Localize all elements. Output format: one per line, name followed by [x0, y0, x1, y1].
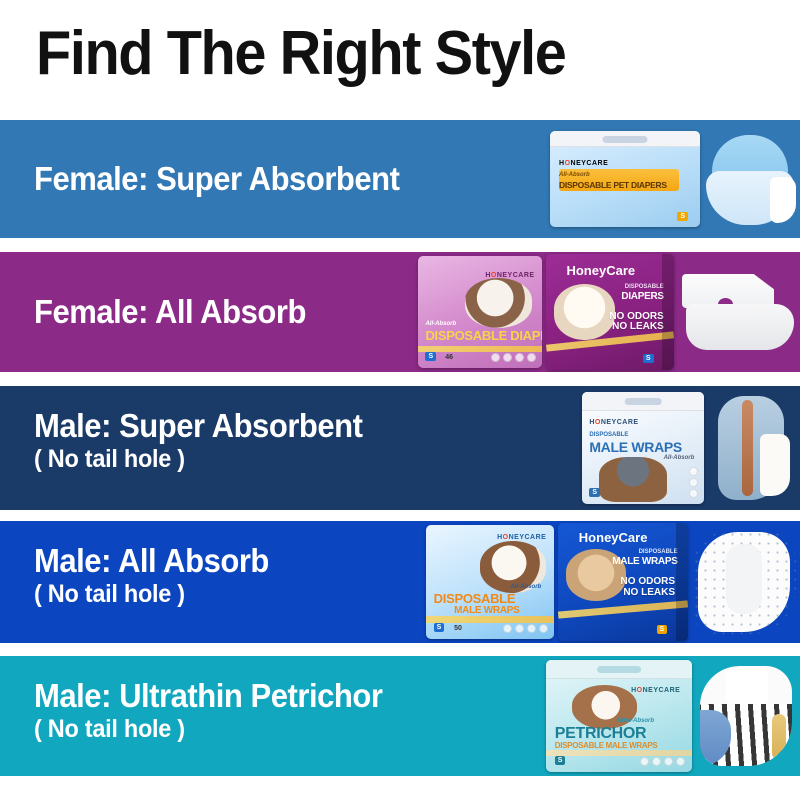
- package-feature-icons: [503, 624, 548, 633]
- row-products-female-super-absorbent: HONEYCARE All-Absorb DISPOSABLE PET DIAP…: [550, 120, 800, 238]
- package-tagline: All-Absorb: [511, 584, 542, 590]
- row-label-note: ( No tail hole ): [34, 579, 269, 609]
- package-feature-icons: [640, 757, 685, 766]
- diaper-leg-cuff: [770, 177, 796, 223]
- package-side-panel: [676, 523, 688, 641]
- row-label-male-ultrathin-petrichor: Male: Ultrathin Petrichor ( No tail hole…: [34, 678, 382, 744]
- package-brand-honeycare: HONEYCARE: [497, 534, 546, 541]
- dog-photo-spaniel-with-hat: [599, 457, 667, 502]
- package-product-name: DIAPERS: [621, 291, 663, 302]
- package-product-name: DISPOSABLE PET DIAPERS: [559, 180, 667, 190]
- package-claim-no-leaks: NO LEAKS: [612, 322, 664, 333]
- row-label-main: Male: All Absorb: [34, 543, 269, 579]
- package-ribbon: [418, 346, 542, 353]
- package-feature-icons: [491, 353, 536, 362]
- package-tagline: All-Absorb: [559, 172, 590, 178]
- product-white-diaper-with-tail-hole: [678, 268, 796, 356]
- row-label-female-super-absorbent: Female: Super Absorbent: [34, 161, 400, 197]
- wrap-body: [700, 666, 792, 766]
- package-all-absorb-male-wraps[interactable]: HONEYCARE All-Absorb DISPOSABLE MALE WRA…: [426, 525, 554, 639]
- package-size-badge: S: [555, 756, 566, 765]
- diaper-front-panel: [686, 304, 794, 350]
- package-handle: [597, 666, 641, 674]
- package-tagline: DISPOSABLE: [589, 432, 628, 438]
- package-tagline: Ultra-Absorb: [617, 718, 654, 724]
- package-brand-honeycare: HONEYCARE: [589, 419, 638, 426]
- package-size-badge: S: [434, 623, 445, 632]
- dog-photo-terrier: [465, 278, 532, 327]
- style-row-male-all-absorb[interactable]: Male: All Absorb ( No tail hole ) HONEYC…: [0, 521, 800, 643]
- package-size-badge: S: [643, 354, 654, 363]
- package-sub-name: DISPOSABLE MALE WRAPS: [555, 741, 658, 750]
- package-honeycare-petrichor-male-wraps[interactable]: HONEYCARE Ultra-Absorb PETRICHOR DISPOSA…: [546, 660, 692, 772]
- package-brand-honeycare: HONEYCARE: [631, 687, 680, 694]
- dog-photo-white-fluffy: [554, 284, 615, 340]
- wrap-fastener-flap: [760, 434, 790, 496]
- package-honeycare-male-wraps[interactable]: HONEYCARE DISPOSABLE MALE WRAPS All-Abso…: [582, 392, 704, 504]
- wrap-gold-panel: [772, 714, 787, 760]
- row-label-main: Male: Super Absorbent: [34, 408, 363, 444]
- row-label-note: ( No tail hole ): [34, 444, 363, 474]
- package-feature-icons: [689, 467, 698, 498]
- package-size-badge: S: [677, 212, 688, 221]
- package-product-name: MALE WRAPS: [589, 439, 682, 455]
- package-claim-no-leaks: NO LEAKS: [623, 588, 675, 599]
- package-sub-tagline: All-Absorb: [664, 455, 695, 461]
- row-products-male-super-absorbent: HONEYCARE DISPOSABLE MALE WRAPS All-Abso…: [582, 386, 800, 510]
- row-label-female-all-absorb: Female: All Absorb: [34, 294, 306, 330]
- package-count: 50: [454, 625, 462, 632]
- style-row-male-super-absorbent[interactable]: Male: Super Absorbent ( No tail hole ) H…: [0, 386, 800, 510]
- product-blue-male-wrap: [708, 394, 796, 502]
- row-products-male-ultrathin-petrichor: HONEYCARE Ultra-Absorb PETRICHOR DISPOSA…: [546, 656, 800, 776]
- package-all-absorb-pet-diapers[interactable]: HONEYCARE All-Absorb DISPOSABLE PET DIAP…: [550, 131, 700, 227]
- package-count: 46: [445, 354, 453, 361]
- package-tagline: DISPOSABLE: [625, 284, 664, 290]
- package-handle: [625, 398, 662, 406]
- wrap-absorbent-stripe: [742, 400, 753, 496]
- package-honeycare-male-wraps-no-odors[interactable]: HoneyCare DISPOSABLE MALE WRAPS NO ODORS…: [558, 523, 688, 641]
- row-label-male-all-absorb: Male: All Absorb ( No tail hole ): [34, 543, 269, 609]
- wrap-fastener-tab: [726, 670, 768, 704]
- product-white-dotted-male-wrap: [692, 530, 796, 634]
- package-brand-honeycare: HoneyCare: [579, 530, 648, 545]
- style-row-female-super-absorbent[interactable]: Female: Super Absorbent HONEYCARE All-Ab…: [0, 120, 800, 238]
- package-size-badge: S: [589, 488, 600, 497]
- package-product-name: MALE WRAPS: [612, 556, 677, 567]
- row-products-male-all-absorb: HONEYCARE All-Absorb DISPOSABLE MALE WRA…: [426, 521, 800, 643]
- row-label-male-super-absorbent: Male: Super Absorbent ( No tail hole ): [34, 408, 363, 474]
- package-product-name: DISPOSABLE DIAPERS: [425, 328, 542, 343]
- package-brand-honeycare: HONEYCARE: [559, 160, 608, 167]
- style-row-male-ultrathin-petrichor[interactable]: Male: Ultrathin Petrichor ( No tail hole…: [0, 656, 800, 776]
- row-label-main: Female: All Absorb: [34, 294, 306, 330]
- package-size-badge: S: [657, 625, 668, 634]
- page-title: Find The Right Style: [36, 22, 565, 86]
- product-zebra-male-wrap: [696, 664, 796, 768]
- package-handle: [603, 136, 648, 143]
- package-ribbon: [426, 616, 554, 623]
- package-all-absorb-disposable-diapers[interactable]: HONEYCARE All-Absorb DISPOSABLE DIAPERS …: [418, 256, 542, 368]
- package-side-panel: [662, 254, 674, 370]
- row-label-main: Female: Super Absorbent: [34, 161, 400, 197]
- row-label-main: Male: Ultrathin Petrichor: [34, 678, 382, 714]
- package-ribbon: [546, 750, 692, 757]
- package-honeycare-disposable-diapers[interactable]: HoneyCare DISPOSABLE DIAPERS NO ODORS NO…: [546, 254, 674, 370]
- row-label-note: ( No tail hole ): [34, 714, 382, 744]
- wrap-absorbent-core: [726, 544, 762, 614]
- package-brand-honeycare: HoneyCare: [566, 263, 635, 278]
- style-row-female-all-absorb[interactable]: Female: All Absorb HONEYCARE All-Absorb …: [0, 252, 800, 372]
- package-size-badge: S: [425, 352, 436, 361]
- package-ribbon: [558, 600, 688, 618]
- package-tagline: DISPOSABLE: [639, 549, 678, 555]
- product-blue-pullup-diaper: [704, 131, 796, 227]
- package-tagline: All-Absorb: [425, 321, 456, 327]
- row-products-female-all-absorb: HONEYCARE All-Absorb DISPOSABLE DIAPERS …: [418, 252, 800, 372]
- package-sub-name: MALE WRAPS: [454, 605, 519, 616]
